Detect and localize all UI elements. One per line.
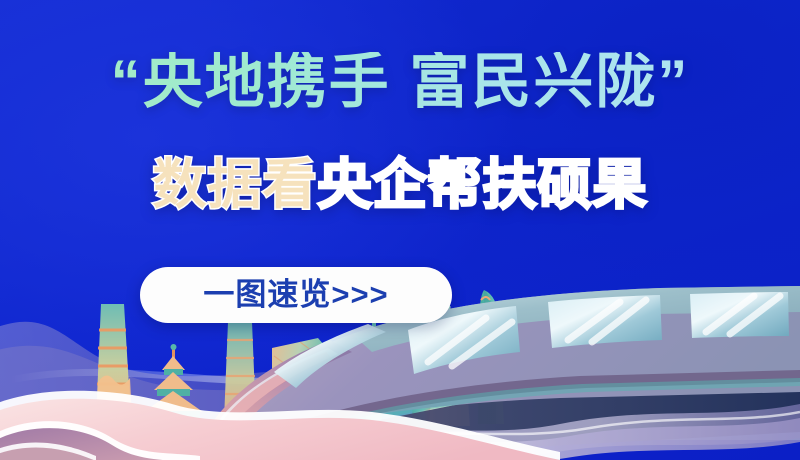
subheadline-highlight: 数据看 — [153, 155, 318, 215]
promo-banner: “央地携手 富民兴陇” 数据看央企帮扶硕果 一图速览>>> — [0, 0, 800, 460]
view-infographic-button[interactable]: 一图速览>>> — [140, 267, 452, 323]
banner-headline: “央地携手 富民兴陇” — [0, 52, 800, 112]
banner-text-layer: “央地携手 富民兴陇” 数据看央企帮扶硕果 一图速览>>> — [0, 0, 800, 460]
subheadline-rest: 央企帮扶硕果 — [318, 155, 648, 215]
view-infographic-button-label: 一图速览>>> — [203, 279, 388, 310]
banner-subheadline: 数据看央企帮扶硕果 — [0, 158, 800, 212]
